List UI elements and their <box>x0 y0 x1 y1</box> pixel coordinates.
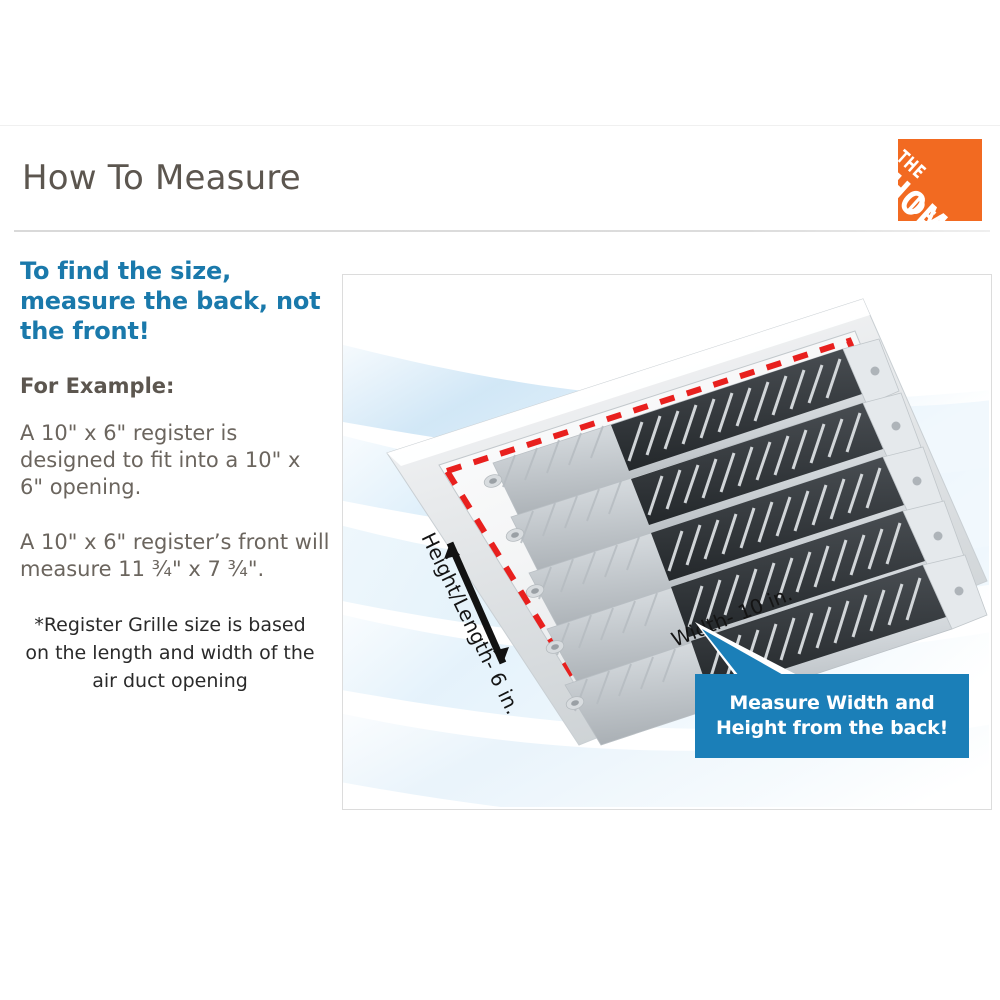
example-heading: For Example: <box>20 374 330 398</box>
callout-pointer-icon <box>685 622 805 678</box>
callout-line-2: Height from the back! <box>716 716 948 741</box>
example-paragraph-1: A 10" x 6" register is designed to fit i… <box>20 420 330 501</box>
callout-text: Measure Width and Height from the back! <box>695 674 969 758</box>
lead-statement: To find the size, measure the back, not … <box>20 256 330 346</box>
copy-column: To find the size, measure the back, not … <box>20 256 330 695</box>
example-paragraph-2: A 10" x 6" register’s front will measure… <box>20 529 330 583</box>
the-home-depot-logo: THE HOME DEPOT <box>898 139 982 221</box>
page-title: How To Measure <box>22 158 301 198</box>
header-divider <box>14 230 990 232</box>
footnote-text: *Register Grille size is based on the le… <box>20 611 320 695</box>
top-divider <box>0 125 1000 126</box>
measure-callout: Measure Width and Height from the back! <box>695 674 969 758</box>
how-to-measure-page: How To Measure THE HOME DEPOT To find th… <box>0 0 1000 1000</box>
callout-line-1: Measure Width and <box>729 691 934 716</box>
